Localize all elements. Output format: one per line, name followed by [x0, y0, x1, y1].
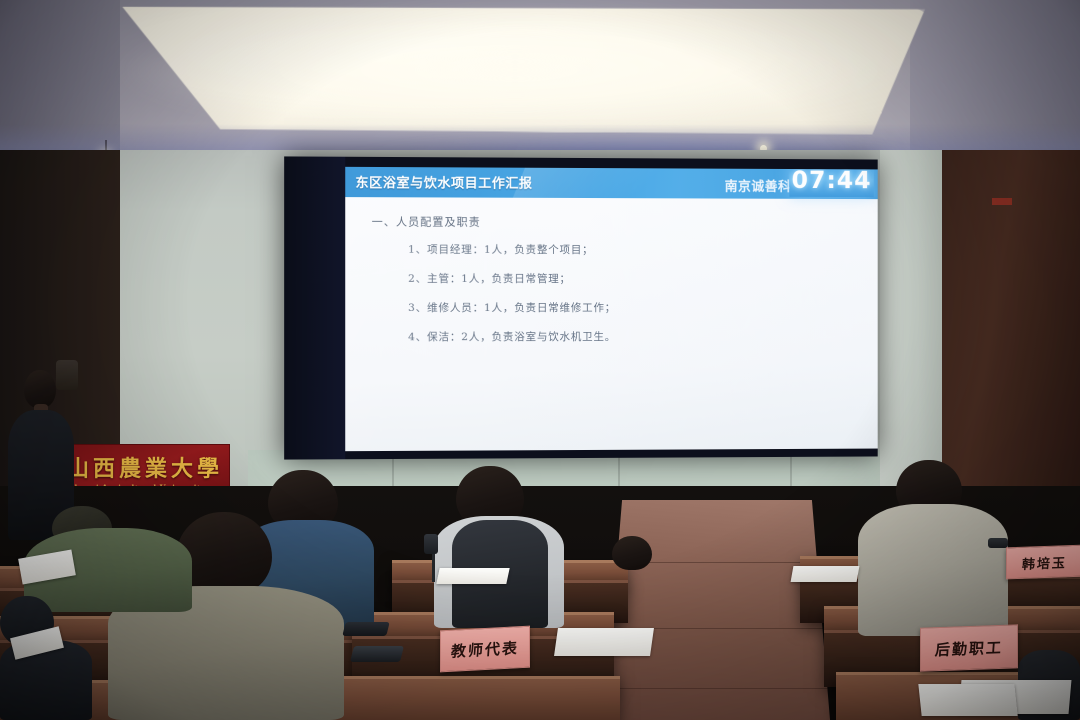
paper-sheet	[554, 628, 654, 656]
wall-speaker-icon	[56, 360, 78, 390]
wall-right-pillar	[880, 150, 942, 490]
slide-section-heading: 一、人员配置及职责	[372, 213, 878, 230]
paper-sheet	[436, 568, 509, 584]
namecard-han-peiyu: 韩培玉	[1006, 545, 1080, 580]
namecard-label: 教师代表	[450, 637, 519, 662]
slide-list-item: 2、主管：1人，负责日常管理；	[408, 271, 878, 286]
smartphone[interactable]	[342, 622, 389, 636]
microphone[interactable]	[424, 534, 438, 554]
paper-sheet	[791, 566, 860, 582]
person-jacket	[858, 504, 1008, 636]
namecard-logistics-staff: 后勤职工	[920, 624, 1018, 671]
smartphone[interactable]	[350, 646, 404, 662]
ceiling-light-glow	[120, 10, 910, 130]
slide-title: 东区浴室与饮水项目工作汇报	[355, 172, 532, 192]
slide-list-item: 3、维修人员：1人，负责日常维修工作；	[408, 300, 878, 315]
screen-left-dark-band	[284, 156, 345, 459]
open-notebook	[918, 684, 1017, 716]
timer-value: 07:44	[792, 167, 872, 194]
banner-chinese-text: 山西農業大學	[67, 451, 223, 483]
presentation-slide: 东区浴室与饮水项目工作汇报 南京诚善科 一、人员配置及职责 1、项目经理：1人，…	[345, 167, 877, 451]
countdown-timer: 07:44	[789, 167, 873, 197]
floor-plank-line	[604, 688, 830, 689]
conference-room-photo: 山西農業大學 Shanxi Agricultural University 东区…	[0, 0, 1080, 720]
microphone[interactable]	[988, 538, 1008, 548]
desk-row-front-center	[330, 676, 620, 720]
center-aisle-floor	[604, 500, 830, 720]
slide-list-item: 1、项目经理：1人，负责整个项目；	[408, 242, 878, 258]
exit-sign-icon	[992, 198, 1012, 205]
slide-company-name: 南京诚善科	[725, 176, 792, 195]
namecard-teacher-rep: 教师代表	[440, 626, 530, 673]
namecard-label: 后勤职工	[934, 636, 1003, 659]
namecard-label: 韩培玉	[1022, 552, 1068, 573]
projection-screen: 东区浴室与饮水项目工作汇报 南京诚善科 一、人员配置及职责 1、项目经理：1人，…	[284, 156, 878, 459]
person-head	[24, 370, 56, 408]
person-head	[612, 536, 652, 570]
slide-body: 一、人员配置及职责 1、项目经理：1人，负责整个项目； 2、主管：1人，负责日常…	[345, 197, 877, 451]
slide-list-item: 4、保洁：2人，负责浴室与饮水机卫生。	[408, 329, 878, 344]
